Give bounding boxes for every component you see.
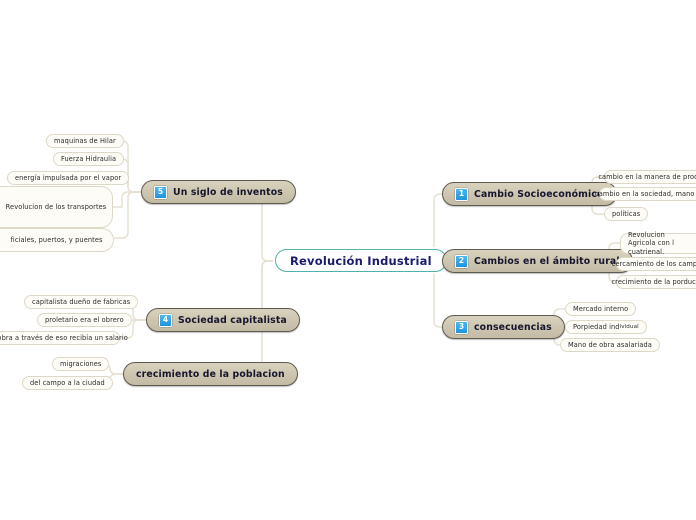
leaf-label: del campo a la ciudad <box>30 379 105 387</box>
leaf-cercamiento-campos[interactable]: cercamiento de los campo <box>616 257 696 271</box>
badge-number-icon: 2 <box>455 255 468 268</box>
leaf-del-campo-a-la-ciudad[interactable]: del campo a la ciudad <box>22 376 113 390</box>
leaf-cambio-sociedad[interactable]: cambio en la sociedad, mano d <box>599 187 696 201</box>
leaf-label: Porpiedad ind <box>573 323 620 331</box>
leaf-label: maquinas de Hilar <box>54 137 116 145</box>
leaf-label: migraciones <box>60 360 101 368</box>
leaf-capitalista-dueno-fabricas[interactable]: capitalista dueño de fabricas <box>24 295 138 309</box>
branch-label: consecuencias <box>474 322 552 333</box>
branch-label: Cambio Socioeconómico <box>474 189 604 200</box>
branch-label: Un siglo de inventos <box>173 187 283 198</box>
badge-number-icon: 5 <box>154 186 167 199</box>
leaf-canales-puertos-puentes[interactable]: ficiales, puertos, y puentes <box>0 228 114 252</box>
branch-label: crecimiento de la poblacion <box>136 369 285 380</box>
leaf-energia-vapor[interactable]: energía impulsada por el vapor <box>7 171 129 185</box>
leaf-mano-obra-asalariada[interactable]: Mano de obra asalariada <box>560 338 660 352</box>
branch-label: Sociedad capitalista <box>178 315 287 326</box>
leaf-label: energía impulsada por el vapor <box>15 174 121 182</box>
branch-crecimiento-poblacion[interactable]: crecimiento de la poblacion <box>123 362 298 386</box>
leaf-mano-obra-salario[interactable]: e obra a través de eso recibía un salari… <box>0 331 120 345</box>
central-node-label: Revolución Industrial <box>290 254 432 268</box>
central-node[interactable]: Revolución Industrial <box>275 249 447 272</box>
leaf-propiedad-individual[interactable]: Porpiedad individual <box>565 320 647 334</box>
leaf-label: Mercado interno <box>573 305 628 313</box>
leaf-label: cambio en la manera de produ <box>598 173 696 181</box>
leaf-label: ficiales, puertos, y puentes <box>10 236 102 244</box>
leaf-politicas[interactable]: políticas <box>604 207 648 221</box>
leaf-migraciones[interactable]: migraciones <box>52 357 109 371</box>
leaf-revolucion-transportes[interactable]: Revolucion de los transportes <box>0 186 113 228</box>
leaf-label: Mano de obra asalariada <box>568 341 652 349</box>
leaf-label: Fuerza Hidraulia <box>61 155 116 163</box>
leaf-label: cercamiento de los campo <box>612 260 696 268</box>
branch-cambios-ambito-rural[interactable]: 2 Cambios en el ámbito rural <box>442 249 633 273</box>
leaf-label: políticas <box>612 210 640 218</box>
leaf-label: Revolucion Agricola con l cuatrienal. <box>628 231 689 256</box>
branch-label: Cambios en el ámbito rural <box>474 256 620 267</box>
leaf-proletario-obrero[interactable]: proletario era el obrero <box>37 313 132 327</box>
leaf-label-suffix: ividual <box>620 324 639 330</box>
branch-un-siglo-de-inventos[interactable]: 5 Un siglo de inventos <box>141 180 296 204</box>
leaf-fuerza-hidraulica[interactable]: Fuerza Hidraulia <box>53 152 124 166</box>
leaf-label: cambio en la sociedad, mano d <box>595 190 696 198</box>
mindmap-canvas: Revolución Industrial 1 Cambio Socioecon… <box>0 0 696 520</box>
leaf-revolucion-agricola[interactable]: Revolucion Agricola con l cuatrienal. <box>620 233 696 254</box>
leaf-label: capitalista dueño de fabricas <box>32 298 130 306</box>
leaf-label: e obra a través de eso recibía un salari… <box>0 334 128 342</box>
leaf-label: crecimiento de la porducci <box>611 278 696 286</box>
leaf-cambio-manera-produccion[interactable]: cambio en la manera de produ <box>604 170 696 184</box>
leaf-maquinas-de-hilar[interactable]: maquinas de Hilar <box>46 134 124 148</box>
branch-consecuencias[interactable]: 3 consecuencias <box>442 315 565 339</box>
badge-number-icon: 3 <box>455 321 468 334</box>
leaf-mercado-interno[interactable]: Mercado interno <box>565 302 636 316</box>
leaf-crecimiento-produccion[interactable]: crecimiento de la porducci <box>616 275 696 289</box>
branch-sociedad-capitalista[interactable]: 4 Sociedad capitalista <box>146 308 300 332</box>
branch-cambio-socioeconomico[interactable]: 1 Cambio Socioeconómico <box>442 182 617 206</box>
badge-number-icon: 1 <box>455 188 468 201</box>
leaf-label: Revolucion de los transportes <box>6 203 107 211</box>
badge-number-icon: 4 <box>159 314 172 327</box>
leaf-label: proletario era el obrero <box>45 316 124 324</box>
